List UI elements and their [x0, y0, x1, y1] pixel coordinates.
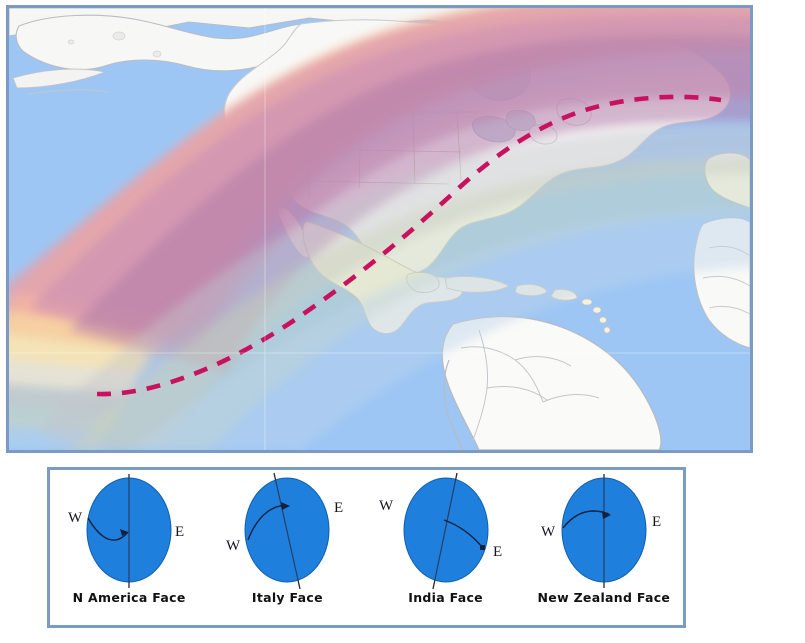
earth-sphere	[404, 478, 488, 582]
globe-cell-new-zealand: W E New Zealand Face	[529, 470, 679, 605]
globe-caption-india: India Face	[371, 590, 521, 605]
india-face-globe: W E	[371, 470, 521, 592]
east-label: E	[334, 500, 343, 516]
west-label: W	[226, 538, 241, 554]
globe-cell-n-america: W E N America Face	[54, 470, 204, 605]
west-label: W	[379, 498, 394, 514]
globe-row: W E N America Face W E Italy Face	[50, 470, 683, 625]
italy-face-globe: W E	[212, 470, 362, 592]
eclipse-map-panel	[6, 5, 753, 453]
earth-faces-panel: W E N America Face W E Italy Face	[47, 467, 686, 628]
direction-terminator	[480, 545, 485, 550]
west-label: W	[541, 524, 556, 540]
globe-cell-italy: W E Italy Face	[212, 470, 362, 605]
west-label: W	[68, 510, 83, 526]
n-america-face-globe: W E	[54, 470, 204, 592]
east-label: E	[493, 544, 502, 560]
eclipse-map	[9, 8, 750, 450]
globe-cell-india: W E India Face	[371, 470, 521, 605]
globe-caption-n-america: N America Face	[54, 590, 204, 605]
globe-caption-new-zealand: New Zealand Face	[529, 590, 679, 605]
globe-caption-italy: Italy Face	[212, 590, 362, 605]
east-label: E	[652, 514, 661, 530]
new-zealand-face-globe: W E	[529, 470, 679, 592]
east-label: E	[175, 524, 184, 540]
